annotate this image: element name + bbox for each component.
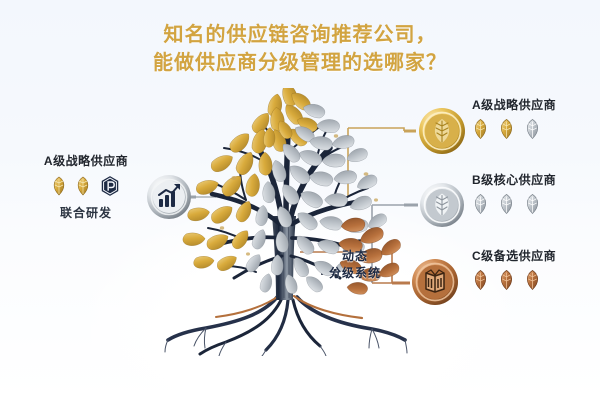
tier-b-block: B级核心供应商 bbox=[472, 171, 556, 215]
silver-leaf-icon bbox=[472, 193, 489, 215]
tier-c-label: C级备选供应商 bbox=[472, 247, 556, 264]
tier-b-leaves bbox=[472, 193, 556, 215]
tier-c-block: C级备选供应商 bbox=[472, 247, 556, 291]
tier-b-label: B级核心供应商 bbox=[472, 171, 556, 188]
bronze-leaf-icon bbox=[472, 269, 489, 291]
tier-c-medal-bronze[interactable] bbox=[411, 258, 459, 306]
left-panel-title: A级战略供应商 bbox=[27, 152, 145, 169]
left-tier-panel: A级战略供应商 联合研发 bbox=[27, 152, 145, 221]
gold-leaf-icon bbox=[498, 118, 515, 140]
bronze-leaf-icon bbox=[524, 269, 541, 291]
infographic-canvas: 知名的供应链咨询推荐公司， 能做供应商分级管理的选哪家？ bbox=[0, 0, 600, 400]
tier-c-leaves bbox=[472, 269, 556, 291]
gold-leaf-icon bbox=[472, 118, 489, 140]
tier-a-leaves bbox=[472, 118, 556, 140]
gold-leaf-icon bbox=[75, 176, 91, 196]
tier-a-medal-gold[interactable] bbox=[418, 107, 466, 155]
silver-leaf-icon bbox=[524, 118, 541, 140]
bronze-leaf-icon bbox=[498, 269, 515, 291]
left-panel-icons bbox=[27, 175, 145, 197]
gold-leaf-icon bbox=[51, 176, 67, 196]
silver-leaf-icon bbox=[498, 193, 515, 215]
supplier-tree-icon bbox=[160, 88, 410, 356]
partnership-hexagon-icon bbox=[99, 175, 121, 197]
tier-a-label: A级战略供应商 bbox=[472, 96, 556, 113]
center-caption: 动态 分级系统 bbox=[300, 248, 410, 283]
tier-b-medal-silver[interactable] bbox=[419, 182, 465, 228]
growth-chart-medal-icon[interactable] bbox=[146, 174, 192, 220]
left-panel-subtitle: 联合研发 bbox=[27, 204, 145, 221]
tier-a-block: A级战略供应商 bbox=[472, 96, 556, 140]
silver-leaf-icon bbox=[524, 193, 541, 215]
